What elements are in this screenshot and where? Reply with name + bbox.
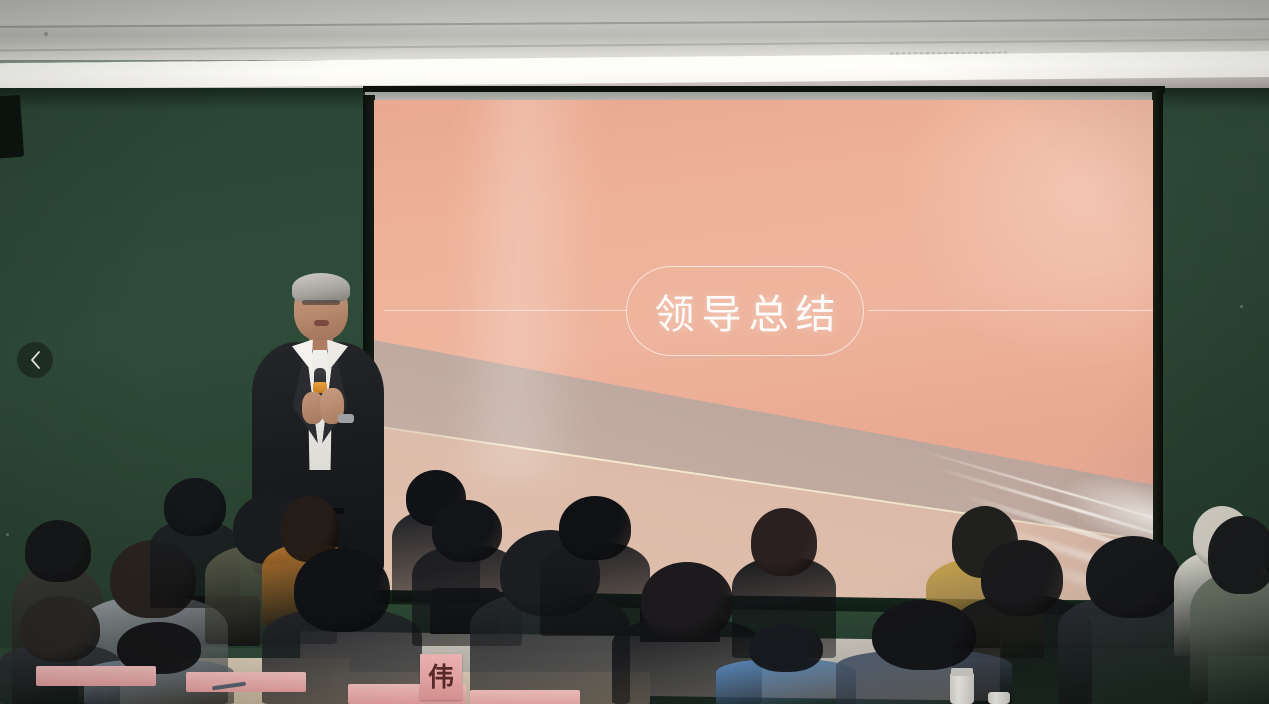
name-placard-text: 伟 bbox=[428, 664, 454, 690]
bottle-cap bbox=[951, 668, 973, 676]
ceiling bbox=[0, 0, 1269, 60]
name-card-strip bbox=[470, 690, 580, 704]
audience-member-head bbox=[1086, 536, 1180, 618]
name-placard: 伟 bbox=[420, 654, 462, 700]
wall-speck bbox=[6, 533, 9, 536]
audience-member-head bbox=[749, 624, 823, 672]
slide-title: 领导总结 bbox=[648, 282, 843, 340]
audience-member-head bbox=[1208, 516, 1269, 594]
audience-member-head bbox=[872, 600, 976, 670]
water-bottle bbox=[988, 692, 1010, 704]
presentation-photo: 领导总结 伟 bbox=[0, 0, 1269, 704]
audience-member-head bbox=[751, 508, 817, 576]
wall-mounted-speaker bbox=[0, 95, 24, 159]
slide-rule-right bbox=[868, 310, 1153, 311]
audience-member-head bbox=[294, 548, 390, 632]
audience-member-head bbox=[559, 496, 631, 560]
presenter-hair bbox=[292, 273, 350, 303]
ceiling-fixture-screw bbox=[44, 32, 48, 36]
screen-glare bbox=[893, 100, 1153, 370]
chevron-left-icon bbox=[28, 350, 42, 370]
slide-rule-left bbox=[384, 310, 626, 311]
slide-title-pill: 领导总结 bbox=[626, 266, 864, 356]
audience-member bbox=[1190, 516, 1269, 704]
audience-member bbox=[716, 624, 856, 704]
presenter-mouth bbox=[314, 320, 329, 326]
name-card-strip bbox=[186, 672, 306, 692]
water-bottle bbox=[950, 672, 974, 704]
audience-member bbox=[836, 600, 1012, 704]
screen-frame-right bbox=[1152, 90, 1163, 604]
previous-button[interactable] bbox=[17, 342, 53, 378]
presenter-watch bbox=[338, 414, 354, 423]
presenter-brow bbox=[302, 300, 340, 305]
name-card-strip bbox=[36, 666, 156, 686]
wall-speck bbox=[1240, 305, 1243, 308]
screen-glare bbox=[447, 100, 602, 482]
